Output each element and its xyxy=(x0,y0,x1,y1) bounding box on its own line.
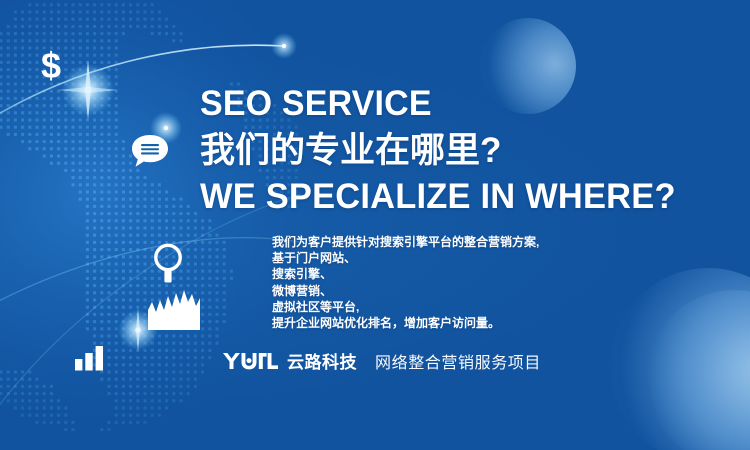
dollar-sign-icon: $ xyxy=(34,46,68,86)
body-line: 基于门户网站、 xyxy=(272,250,692,266)
body-line: 搜索引擎、 xyxy=(272,266,692,282)
magnifier-icon xyxy=(152,243,184,285)
body-line: 微博营销、 xyxy=(272,283,692,299)
body-line: 我们为客户提供针对搜索引擎平台的整合营销方案, xyxy=(272,234,692,250)
line-chart-icon xyxy=(146,288,202,330)
body-line: 提升企业网站优化排名，增加客户访问量。 xyxy=(272,315,692,331)
background-glow-vignette xyxy=(0,0,750,450)
body-line: 虚拟社区等平台, xyxy=(272,299,692,315)
chat-bubble-icon xyxy=(130,133,170,169)
yulu-logo-icon xyxy=(222,351,278,371)
brand-name-chinese: 云路科技 xyxy=(287,348,357,373)
body-paragraph: 我们为客户提供针对搜索引擎平台的整合营销方案, 基于门户网站、 搜索引擎、 微博… xyxy=(272,234,692,331)
headline-english-bottom: WE SPECIALIZE IN WHERE? xyxy=(200,179,722,214)
headline-block: SEO SERVICE 我们的专业在哪里? WE SPECIALIZE IN W… xyxy=(200,86,730,214)
headline-english-top: SEO SERVICE xyxy=(200,86,714,121)
footer-tagline: 网络整合营销服务项目 xyxy=(375,349,541,373)
headline-chinese: 我们的专业在哪里? xyxy=(200,133,730,168)
seo-service-banner: $ SEO SERVICE 我们的专业在哪里? WE SPECIALI xyxy=(0,0,750,450)
bar-chart-icon xyxy=(74,345,104,371)
footer-branding: 云路科技 网络整合营销服务项目 xyxy=(222,348,541,373)
svg-text:$: $ xyxy=(41,46,61,86)
